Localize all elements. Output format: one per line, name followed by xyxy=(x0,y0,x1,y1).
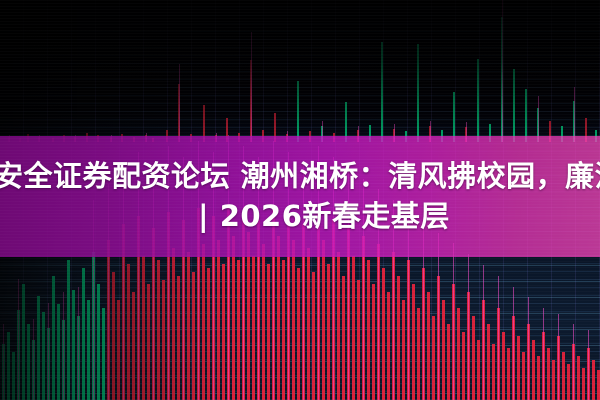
chart-bar xyxy=(525,89,527,142)
chart-bar xyxy=(513,69,515,142)
chart-bar-wick xyxy=(574,87,575,142)
headline-band-inner: 安全证券配资论坛 潮州湘桥：清风拂校园，廉洁润童心 | 2026新春走基层 xyxy=(0,136,600,257)
chart-bar-wick xyxy=(179,64,180,142)
chart-bar xyxy=(297,81,299,142)
chart-bar xyxy=(417,44,419,142)
headline-line-1: 安全证券配资论坛 潮州湘桥：清风拂校园，廉洁润童心 xyxy=(0,157,600,196)
chart-bar xyxy=(477,59,479,142)
chart-bar xyxy=(381,42,383,142)
headline-band: 安全证券配资论坛 潮州湘桥：清风拂校园，廉洁润童心 | 2026新春走基层 xyxy=(0,136,600,257)
headline-line-2: | 2026新春走基层 xyxy=(198,197,600,236)
banner-image: 安全证券配资论坛 潮州湘桥：清风拂校园，廉洁润童心 | 2026新春走基层 xyxy=(0,0,600,400)
chart-bar-wick xyxy=(251,32,252,142)
chart-bar xyxy=(453,92,455,142)
chart-bar-wick xyxy=(502,0,503,142)
